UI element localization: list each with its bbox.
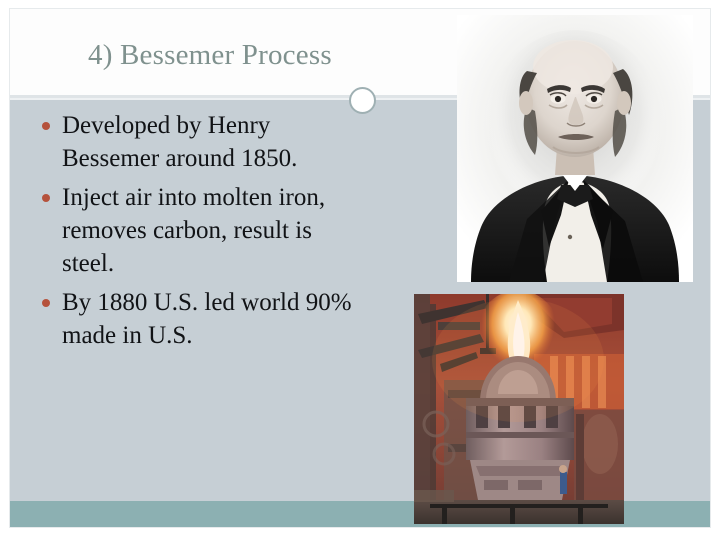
bullet-text: Developed by Henry Bessemer around 1850. [62,112,297,172]
list-item: Developed by Henry Bessemer around 1850. [32,109,362,175]
list-item: Inject air into molten iron, removes car… [32,181,362,280]
presentation-slide: 4) Bessemer Process Developed by Henry B… [10,9,710,527]
portrait-illustration [457,15,693,282]
henry-bessemer-portrait-image [457,15,693,282]
slide-title: 4) Bessemer Process [88,36,508,74]
bullet-text: Inject air into molten iron, removes car… [62,184,325,277]
bullet-dot-icon [42,194,50,202]
bullet-dot-icon [42,299,50,307]
slide-canvas: 4) Bessemer Process Developed by Henry B… [0,0,720,539]
bullet-list: Developed by Henry Bessemer around 1850.… [32,109,362,358]
list-item: By 1880 U.S. led world 90% made in U.S. [32,286,362,352]
bessemer-converter-image [414,294,624,524]
converter-photograph [414,294,624,524]
bullet-text: By 1880 U.S. led world 90% made in U.S. [62,289,352,349]
bullet-dot-icon [42,122,50,130]
